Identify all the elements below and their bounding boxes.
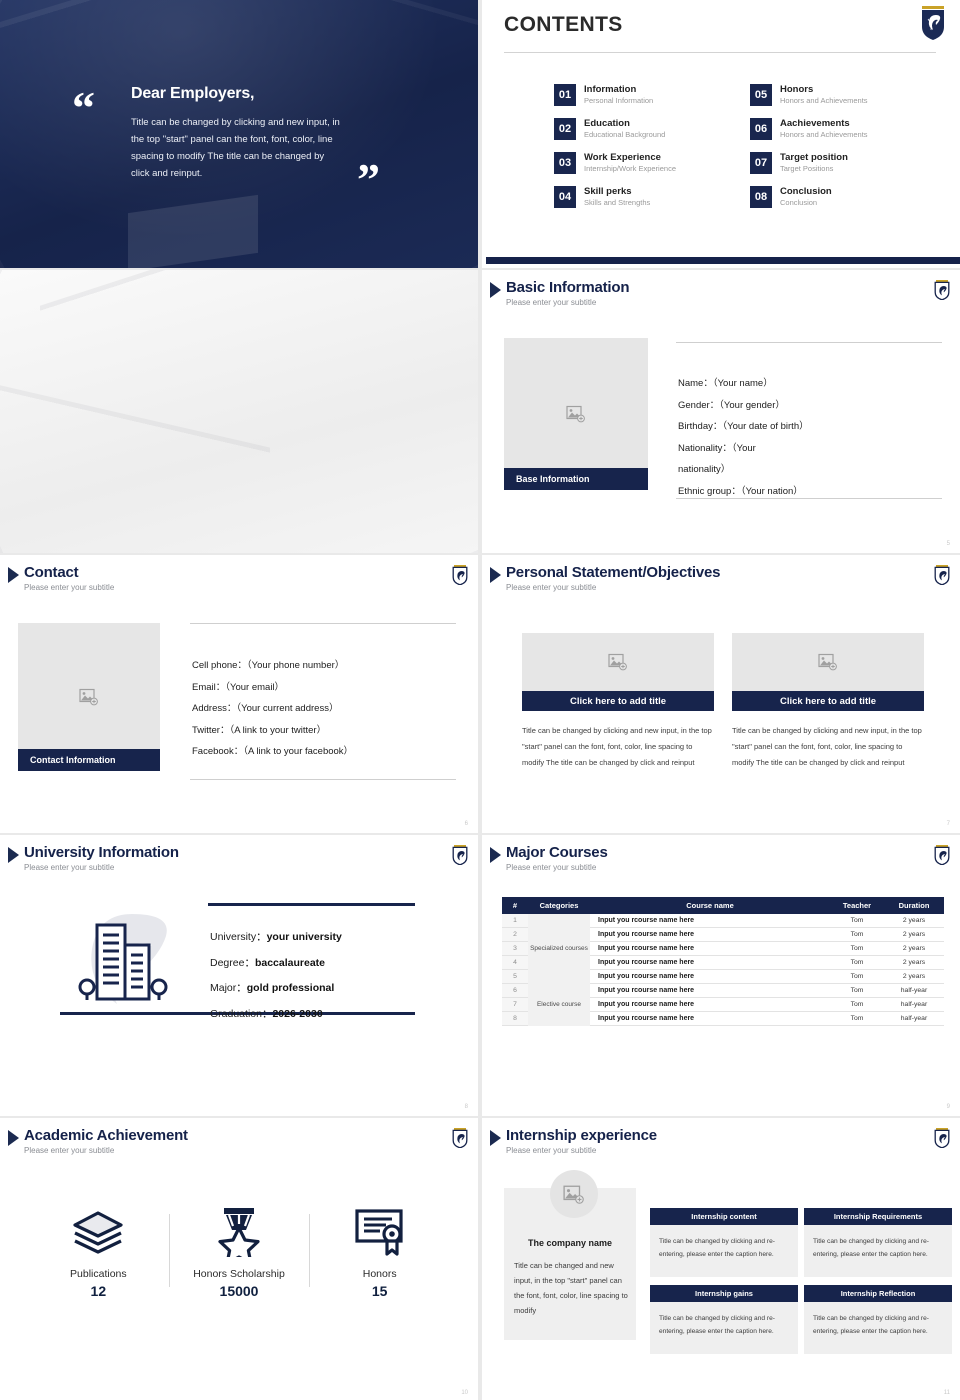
slide-contents[interactable]: CONTENTS 01 Information Personal Informa…: [482, 0, 960, 268]
statement-image-1[interactable]: [522, 633, 714, 691]
box-title: Internship Requirements: [804, 1208, 952, 1225]
internship-box-gains[interactable]: Internship gains Title can be changed by…: [650, 1285, 798, 1354]
table-header-row: # Categories Course name Teacher Duratio…: [502, 897, 944, 914]
slide-cover[interactable]: “ Dear Employers, Title can be changed b…: [0, 0, 478, 268]
field-university: University：your university: [210, 925, 342, 951]
info-row-gender: Gender：（Your gender）: [678, 395, 809, 417]
page-title: University Information: [24, 845, 179, 861]
slide-contact[interactable]: Contact Please enter your subtitle Conta…: [0, 555, 478, 833]
page-title: Academic Achievement: [24, 1128, 188, 1144]
cover-title: Dear Employers,: [131, 85, 254, 103]
contents-item-06[interactable]: 06 Aachievements Honors and Achievements: [750, 118, 936, 140]
box-title: Internship gains: [650, 1285, 798, 1302]
triangle-icon: [490, 282, 501, 298]
page-subtitle: Please enter your subtitle: [506, 298, 629, 307]
slide-header: Major Courses Please enter your subtitle: [490, 845, 608, 872]
contents-number: 07: [750, 152, 772, 174]
lion-shield-logo: [934, 845, 950, 865]
contents-number: 02: [554, 118, 576, 140]
contents-label: Conclusion: [780, 186, 832, 197]
contents-number: 05: [750, 84, 772, 106]
triangle-icon: [8, 847, 19, 863]
contents-sublabel: Internship/Work Experience: [584, 164, 676, 173]
statement-title-bar-2[interactable]: Click here to add title: [732, 691, 924, 711]
info-row-twitter: Twitter：（A link to your twitter）: [192, 720, 353, 742]
cell-course: Input you rcourse name here: [590, 914, 830, 928]
lion-shield-logo: [934, 1128, 950, 1148]
contents-item-02[interactable]: 02 Education Educational Background: [554, 118, 740, 140]
stat-label: Publications: [28, 1268, 169, 1280]
box-body: Title can be changed by clicking and re-…: [650, 1225, 798, 1277]
cell-teacher: Tom: [830, 1012, 884, 1026]
page-subtitle: Please enter your subtitle: [24, 863, 179, 872]
medal-ribbon-icon: [169, 1204, 310, 1260]
stats-row: Publications 12 Honors Scholarship 15000: [28, 1204, 450, 1299]
stat-value: 12: [28, 1283, 169, 1299]
contents-item-08[interactable]: 08 Conclusion Conclusion: [750, 186, 936, 208]
box-body: Title can be changed by clicking and re-…: [650, 1302, 798, 1354]
add-image-icon: [818, 654, 838, 671]
contents-item-07[interactable]: 07 Target position Target Positions: [750, 152, 936, 174]
page-title: Basic Information: [506, 280, 629, 296]
page-subtitle: Please enter your subtitle: [506, 1146, 657, 1155]
stat-value: 15000: [169, 1283, 310, 1299]
page-number: 9: [947, 1104, 950, 1110]
info-row-birthday: Birthday：（Your date of birth）: [678, 416, 809, 438]
lion-shield-logo: [934, 280, 950, 300]
statement-image-2[interactable]: [732, 633, 924, 691]
contents-number: 08: [750, 186, 772, 208]
slide-header: Personal Statement/Objectives Please ent…: [490, 565, 720, 592]
info-row-ethnic-group: Ethnic group：（Your nation）: [678, 481, 809, 503]
photo-placeholder[interactable]: Contact Information: [18, 623, 160, 771]
contents-item-03[interactable]: 03 Work Experience Internship/Work Exper…: [554, 152, 740, 174]
cover-body-text: Title can be changed by clicking and new…: [131, 114, 343, 182]
slide-university-information[interactable]: University Information Please enter your…: [0, 835, 478, 1116]
page-number: 7: [947, 821, 950, 827]
photo-caption: Contact Information: [18, 749, 160, 771]
quote-close-icon: ”: [357, 157, 380, 203]
slide-basic-information[interactable]: Basic Information Please enter your subt…: [482, 270, 960, 553]
books-stack-icon: [28, 1204, 169, 1260]
cell-course: Input you rcourse name here: [590, 984, 830, 998]
page-number: 8: [465, 1104, 468, 1110]
info-top-rule: [676, 342, 942, 343]
page-title: Major Courses: [506, 845, 608, 861]
col-index: #: [502, 897, 528, 914]
internship-box-requirements[interactable]: Internship Requirements Title can be cha…: [804, 1208, 952, 1277]
field-major: Major：gold professional: [210, 976, 342, 1002]
page-subtitle: Please enter your subtitle: [506, 583, 720, 592]
statement-text-2: Title can be changed by clicking and new…: [732, 723, 922, 771]
company-text: Title can be changed and new input, in t…: [514, 1258, 628, 1318]
contents-sublabel: Educational Background: [584, 130, 665, 139]
basic-info-list: Name：（Your name） Gender：（Your gender） Bi…: [678, 373, 809, 502]
cell-duration: 2 years: [884, 942, 944, 956]
cell-index: 8: [502, 1012, 528, 1026]
slide-header: University Information Please enter your…: [8, 845, 179, 872]
table-row[interactable]: 6 Elective course Input you rcourse name…: [502, 984, 944, 998]
slide-academic-achievement[interactable]: Academic Achievement Please enter your s…: [0, 1118, 478, 1400]
lion-shield-logo: [452, 1128, 468, 1148]
university-panel: University：your university Degree：baccal…: [60, 903, 415, 1015]
cell-index: 4: [502, 956, 528, 970]
contents-number: 03: [554, 152, 576, 174]
triangle-icon: [490, 1130, 501, 1146]
page-number: 6: [465, 821, 468, 827]
field-graduation: Graduation：2026-2030: [210, 1002, 342, 1028]
cell-teacher: Tom: [830, 956, 884, 970]
contents-label: Honors: [780, 84, 868, 95]
cell-index: 2: [502, 928, 528, 942]
contents-divider: [504, 52, 936, 53]
col-course-name: Course name: [590, 897, 830, 914]
cell-course: Input you rcourse name here: [590, 970, 830, 984]
cell-duration: 2 years: [884, 970, 944, 984]
panel-top-rule: [208, 903, 415, 906]
internship-box-reflection[interactable]: Internship Reflection Title can be chang…: [804, 1285, 952, 1354]
cell-duration: 2 years: [884, 914, 944, 928]
contents-sublabel: Target Positions: [780, 164, 848, 173]
cell-index: 6: [502, 984, 528, 998]
cell-index: 1: [502, 914, 528, 928]
info-row-name: Name：（Your name）: [678, 373, 809, 395]
table-row[interactable]: 1 Specialized courses Input you rcourse …: [502, 914, 944, 928]
slide-header: Contact Please enter your subtitle: [8, 565, 114, 592]
contact-info-list: Cell phone：（Your phone number） Email：（Yo…: [192, 655, 353, 763]
page-number: 10: [461, 1390, 468, 1396]
courses-table[interactable]: # Categories Course name Teacher Duratio…: [502, 897, 944, 1026]
field-degree: Degree：baccalaureate: [210, 951, 342, 977]
page-title: Contact: [24, 565, 114, 581]
cell-course: Input you rcourse name here: [590, 928, 830, 942]
cell-teacher: Tom: [830, 928, 884, 942]
slide-header: Internship experience Please enter your …: [490, 1128, 657, 1155]
add-image-icon: [79, 689, 99, 706]
contents-label: Skill perks: [584, 186, 650, 197]
photo-placeholder[interactable]: Base Information: [504, 338, 648, 490]
page-number: 11: [944, 1390, 950, 1396]
lion-shield-logo: [920, 6, 946, 40]
statement-title-bar-1[interactable]: Click here to add title: [522, 691, 714, 711]
company-image-placeholder[interactable]: [550, 1170, 598, 1218]
contents-number: 06: [750, 118, 772, 140]
page-subtitle: Please enter your subtitle: [506, 863, 608, 872]
lion-shield-logo: [934, 565, 950, 585]
cell-duration: 2 years: [884, 956, 944, 970]
add-image-icon: [608, 654, 628, 671]
contents-item-05[interactable]: 05 Honors Honors and Achievements: [750, 84, 936, 106]
cell-course: Input you rcourse name here: [590, 1012, 830, 1026]
cell-teacher: Tom: [830, 970, 884, 984]
slide-header: Basic Information Please enter your subt…: [490, 280, 629, 307]
contents-number: 01: [554, 84, 576, 106]
contents-label: Target position: [780, 152, 848, 163]
contents-sublabel: Honors and Achievements: [780, 96, 868, 105]
col-teacher: Teacher: [830, 897, 884, 914]
cell-course: Input you rcourse name here: [590, 942, 830, 956]
triangle-icon: [490, 847, 501, 863]
contents-label: Work Experience: [584, 152, 676, 163]
contents-item-04[interactable]: 04 Skill perks Skills and Strengths: [554, 186, 740, 208]
company-name: The company name: [504, 1238, 636, 1248]
col-categories: Categories: [528, 897, 590, 914]
cell-duration: half-year: [884, 984, 944, 998]
slide-major-courses[interactable]: Major Courses Please enter your subtitle…: [482, 835, 960, 1116]
page-subtitle: Please enter your subtitle: [24, 583, 114, 592]
university-fields: University：your university Degree：baccal…: [210, 925, 342, 1027]
contents-number: 04: [554, 186, 576, 208]
add-image-icon: [563, 1185, 585, 1204]
cell-index: 7: [502, 998, 528, 1012]
triangle-icon: [8, 1130, 19, 1146]
box-title: Internship Reflection: [804, 1285, 952, 1302]
stat-publications: Publications 12: [28, 1204, 169, 1299]
cell-category-elective: Elective course: [528, 984, 590, 1026]
quote-open-icon: “: [72, 85, 95, 131]
cell-teacher: Tom: [830, 998, 884, 1012]
box-body: Title can be changed by clicking and re-…: [804, 1302, 952, 1354]
slide-section-divider[interactable]: 01 Personal Information Personal Informa…: [0, 270, 478, 553]
lion-shield-logo: [452, 845, 468, 865]
info-row-facebook: Facebook：（A link to your facebook）: [192, 741, 353, 763]
photo-caption: Base Information: [504, 468, 648, 490]
cell-category-specialized: Specialized courses: [528, 914, 590, 984]
contents-label: Education: [584, 118, 665, 129]
info-row-email: Email：（Your email）: [192, 677, 353, 699]
info-row-nationality: Nationality：（Your: [678, 438, 809, 460]
info-top-rule: [190, 623, 456, 624]
stat-label: Honors Scholarship: [169, 1268, 310, 1280]
stat-label: Honors: [309, 1268, 450, 1280]
page-title: Personal Statement/Objectives: [506, 565, 720, 581]
col-duration: Duration: [884, 897, 944, 914]
contents-label: Information: [584, 84, 653, 95]
cell-teacher: Tom: [830, 914, 884, 928]
triangle-icon: [490, 567, 501, 583]
internship-box-content[interactable]: Internship content Title can be changed …: [650, 1208, 798, 1277]
cell-course: Input you rcourse name here: [590, 956, 830, 970]
slide-header: Academic Achievement Please enter your s…: [8, 1128, 188, 1155]
slide-personal-statement[interactable]: Personal Statement/Objectives Please ent…: [482, 555, 960, 833]
buildings-icon: [74, 911, 192, 1009]
cell-course: Input you rcourse name here: [590, 998, 830, 1012]
triangle-icon: [8, 567, 19, 583]
statement-text-1: Title can be changed by clicking and new…: [522, 723, 712, 771]
contents-list: 01 Information Personal Information 05 H…: [554, 84, 936, 208]
contents-sublabel: Skills and Strengths: [584, 198, 650, 207]
stat-honors-scholarship: Honors Scholarship 15000: [169, 1204, 310, 1299]
page-number: 5: [947, 541, 950, 547]
add-image-icon: [566, 406, 586, 423]
info-row-address: Address：（Your current address）: [192, 698, 353, 720]
slide-internship-experience[interactable]: Internship experience Please enter your …: [482, 1118, 960, 1400]
certificate-icon: [309, 1204, 450, 1260]
contents-bottom-bar: [486, 257, 960, 264]
cell-index: 3: [502, 942, 528, 956]
cell-index: 5: [502, 970, 528, 984]
info-row-cell-phone: Cell phone：（Your phone number）: [192, 655, 353, 677]
contents-item-01[interactable]: 01 Information Personal Information: [554, 84, 740, 106]
contents-title: CONTENTS: [504, 13, 623, 37]
cell-duration: 2 years: [884, 928, 944, 942]
box-body: Title can be changed by clicking and re-…: [804, 1225, 952, 1277]
page-subtitle: Please enter your subtitle: [24, 1146, 188, 1155]
stat-honors: Honors 15: [309, 1204, 450, 1299]
page-title: Internship experience: [506, 1128, 657, 1144]
contents-sublabel: Honors and Achievements: [780, 130, 868, 139]
info-row-nationality-cont: nationality）: [678, 459, 809, 481]
cell-duration: half-year: [884, 1012, 944, 1026]
info-bottom-rule: [190, 779, 456, 780]
contents-label: Aachievements: [780, 118, 868, 129]
cell-duration: half-year: [884, 998, 944, 1012]
contents-sublabel: Personal Information: [584, 96, 653, 105]
box-title: Internship content: [650, 1208, 798, 1225]
cell-teacher: Tom: [830, 942, 884, 956]
cell-teacher: Tom: [830, 984, 884, 998]
lion-shield-logo: [452, 565, 468, 585]
slide-thumbnail-grid: “ Dear Employers, Title can be changed b…: [0, 0, 960, 1400]
contents-sublabel: Conclusion: [780, 198, 832, 207]
stat-value: 15: [309, 1283, 450, 1299]
